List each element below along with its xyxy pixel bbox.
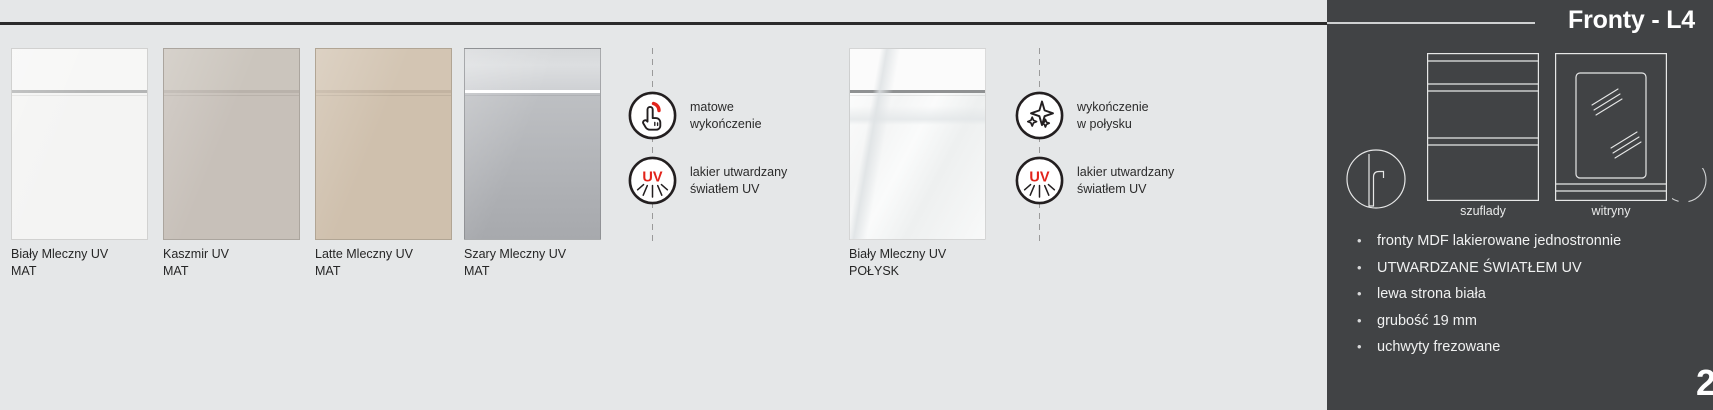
swatch-label: Latte Mleczny UV MAT bbox=[315, 246, 465, 280]
bullet-text: uchwyty frezowane bbox=[1377, 338, 1500, 356]
feature-legend-group: wykończenie w połyskuUVlakier utwardzany… bbox=[1012, 48, 1232, 243]
swatch-label: Biały Mleczny UV POŁYSK bbox=[849, 246, 999, 280]
feature-bullet: •fronty MDF lakierowane jednostronnie bbox=[1357, 232, 1707, 250]
drawer-reveal-line bbox=[850, 90, 985, 93]
bullet-marker: • bbox=[1357, 312, 1377, 330]
page-title: Fronty - L4 bbox=[1568, 6, 1695, 35]
feature-legend-group: matowe wykończenieUVlakier utwardzany św… bbox=[625, 48, 845, 243]
light-content-area: Biały Mleczny UV MATKaszmir UV MATLatte … bbox=[0, 0, 1327, 410]
feature-label: lakier utwardzany światłem UV bbox=[690, 164, 787, 198]
svg-text:UV: UV bbox=[642, 169, 662, 185]
uv-lamp-icon: UV bbox=[628, 156, 677, 205]
drawer-section bbox=[12, 49, 147, 90]
feature-row: UVlakier utwardzany światłem UV bbox=[628, 156, 787, 205]
feature-label: wykończenie w połysku bbox=[1077, 99, 1149, 133]
drawer-reveal-line bbox=[316, 90, 451, 93]
door-front-sample bbox=[315, 48, 452, 240]
feature-label: matowe wykończenie bbox=[690, 99, 762, 133]
feature-label: lakier utwardzany światłem UV bbox=[1077, 164, 1174, 198]
feature-bullet: •uchwyty frezowane bbox=[1357, 338, 1707, 356]
bullet-text: fronty MDF lakierowane jednostronnie bbox=[1377, 232, 1621, 250]
door-front-sample bbox=[11, 48, 148, 240]
bullet-text: lewa strona biała bbox=[1377, 285, 1486, 303]
svg-text:UV: UV bbox=[1029, 169, 1049, 185]
glass-cabinet-caption: witryny bbox=[1555, 204, 1667, 218]
door-swatch[interactable]: Latte Mleczny UV MAT bbox=[315, 48, 452, 240]
drawer-front-icon bbox=[1427, 53, 1539, 201]
feature-row: UVlakier utwardzany światłem UV bbox=[1015, 156, 1174, 205]
bullet-text: grubość 19 mm bbox=[1377, 312, 1477, 330]
feature-bullet: •UTWARDZANE ŚWIATŁEM UV bbox=[1357, 259, 1707, 277]
door-front-sample bbox=[464, 48, 601, 240]
glass-cabinet-icon bbox=[1555, 53, 1667, 201]
drawer-section bbox=[316, 49, 451, 90]
door-front-sample bbox=[163, 48, 300, 240]
door-swatch[interactable]: Szary Mleczny UV MAT bbox=[464, 48, 601, 240]
drawer-shadow-line bbox=[12, 95, 147, 96]
drawer-shadow-line bbox=[164, 95, 299, 96]
bullet-text: UTWARDZANE ŚWIATŁEM UV bbox=[1377, 259, 1582, 277]
bullet-marker: • bbox=[1357, 338, 1377, 356]
drawer-shadow-line bbox=[850, 95, 985, 96]
door-front-sample bbox=[849, 48, 986, 240]
swatch-label: Szary Mleczny UV MAT bbox=[464, 246, 614, 280]
drawer-shadow-line bbox=[316, 95, 451, 96]
drawer-reveal-line bbox=[465, 90, 600, 93]
vertical-dashed-divider bbox=[652, 48, 653, 243]
bullet-marker: • bbox=[1357, 259, 1377, 277]
vertical-dashed-divider bbox=[1039, 48, 1040, 243]
door-swatch[interactable]: Biały Mleczny UV MAT bbox=[11, 48, 148, 240]
feature-row: wykończenie w połysku bbox=[1015, 91, 1149, 140]
feature-bullet: •grubość 19 mm bbox=[1357, 312, 1707, 330]
summary-panel: Fronty - L4 szuflady bbox=[1327, 0, 1713, 410]
catalog-page: Biały Mleczny UV MATKaszmir UV MATLatte … bbox=[0, 0, 1713, 410]
header-divider-rule bbox=[0, 22, 1327, 25]
drawer-section bbox=[164, 49, 299, 90]
handle-circle-decoration-icon bbox=[1672, 168, 1713, 220]
feature-row: matowe wykończenie bbox=[628, 91, 762, 140]
feature-bullet-list: •fronty MDF lakierowane jednostronnie•UT… bbox=[1357, 232, 1707, 365]
drawer-front-caption: szuflady bbox=[1427, 204, 1539, 218]
drawer-section bbox=[465, 49, 600, 90]
sparkle-shine-icon bbox=[1015, 91, 1064, 140]
touch-finger-icon bbox=[628, 91, 677, 140]
drawer-reveal-line bbox=[164, 90, 299, 93]
bullet-marker: • bbox=[1357, 285, 1377, 303]
page-number: 2 bbox=[1696, 362, 1713, 404]
door-swatch[interactable]: Biały Mleczny UV POŁYSK bbox=[849, 48, 986, 240]
drawer-reveal-line bbox=[12, 90, 147, 93]
swatch-label: Biały Mleczny UV MAT bbox=[11, 246, 161, 280]
milled-handle-profile-icon bbox=[1345, 148, 1407, 210]
door-swatch[interactable]: Kaszmir UV MAT bbox=[163, 48, 300, 240]
feature-bullet: •lewa strona biała bbox=[1357, 285, 1707, 303]
drawer-section bbox=[850, 49, 985, 90]
swatch-label: Kaszmir UV MAT bbox=[163, 246, 313, 280]
drawer-shadow-line bbox=[465, 95, 600, 96]
title-rule bbox=[1327, 22, 1535, 24]
uv-lamp-icon: UV bbox=[1015, 156, 1064, 205]
bullet-marker: • bbox=[1357, 232, 1377, 250]
